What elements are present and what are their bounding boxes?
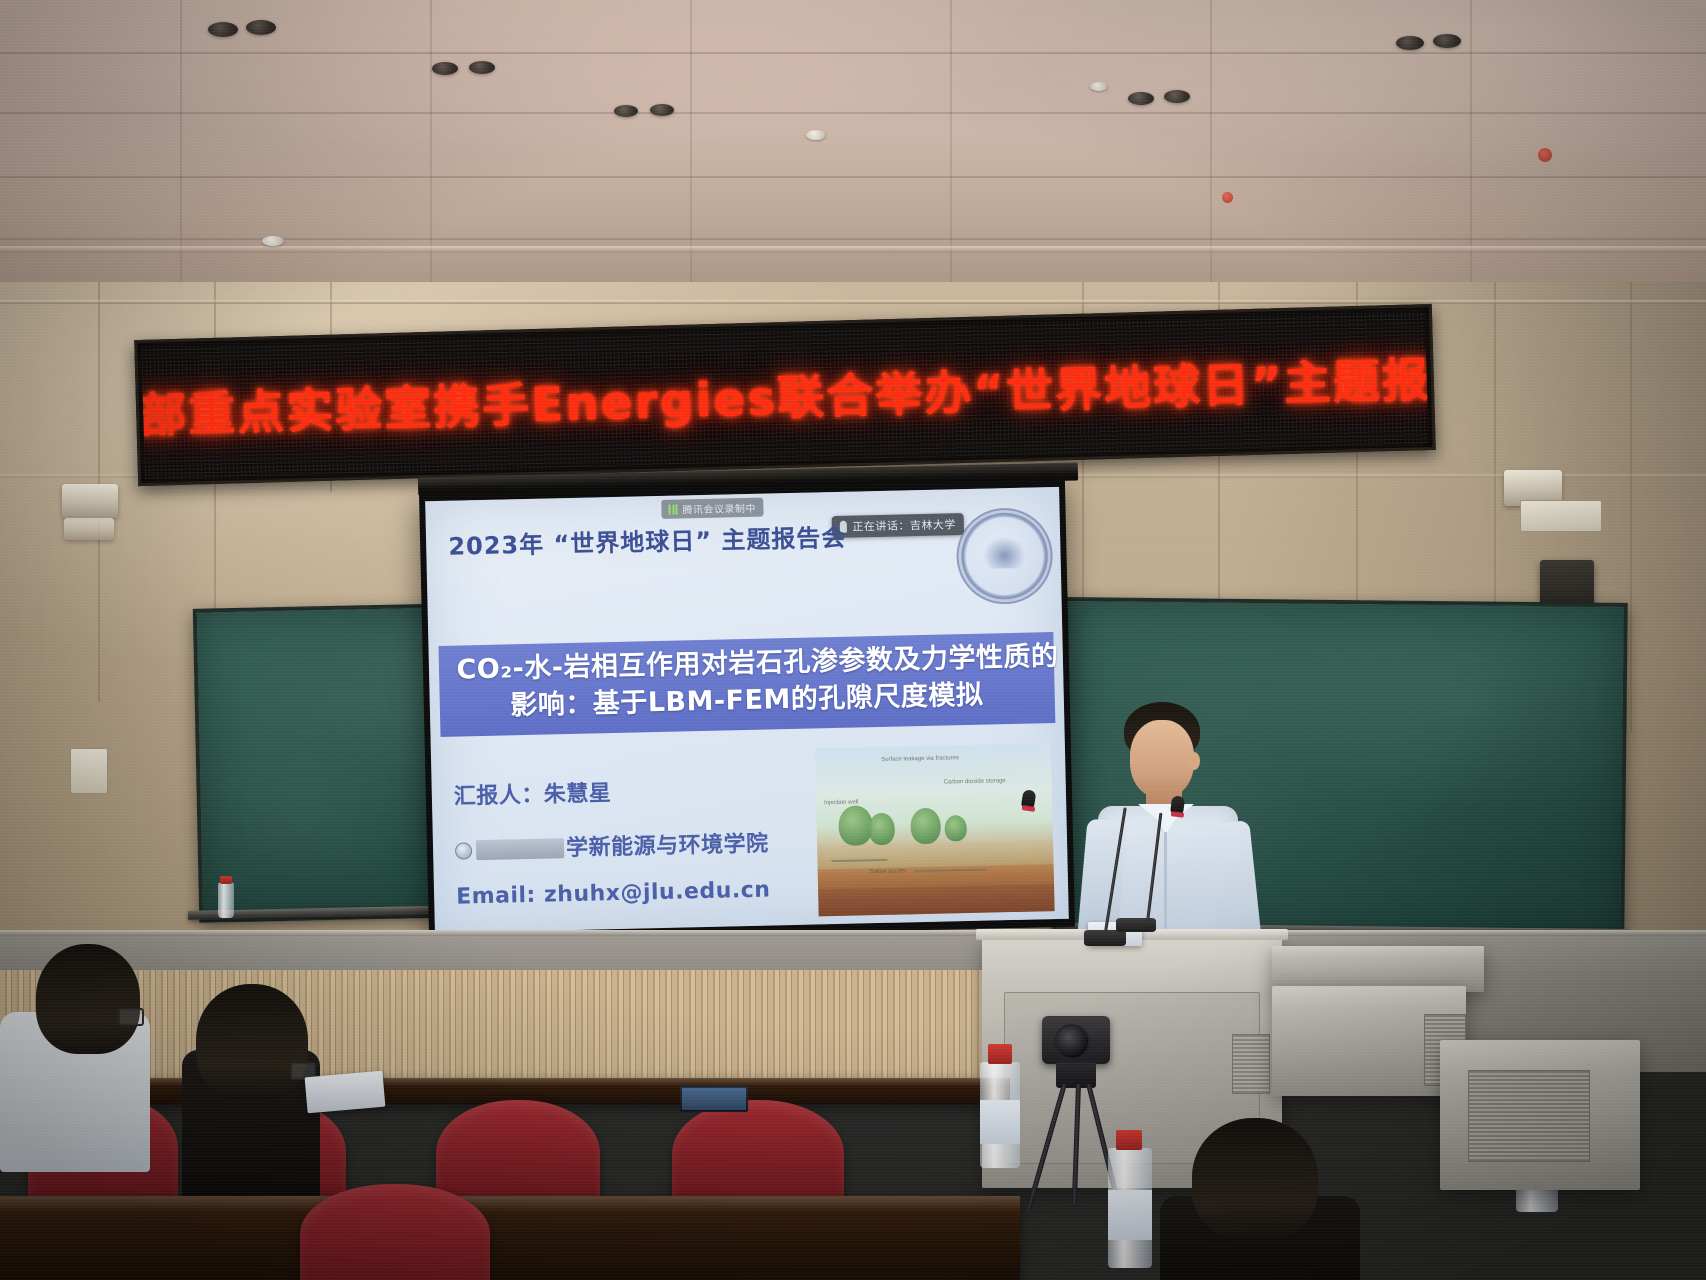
speaking-badge-text: 正在讲话：吉林大学: [852, 516, 956, 534]
microphone-base-right: [1116, 918, 1156, 932]
slide-affiliation-text: 学新能源与环境学院: [566, 832, 769, 862]
slide-title-block: CO₂-水-岩相互作用对岩石孔渗参数及力学性质的 影响：基于LBM-FEM的孔隙…: [438, 632, 1055, 736]
stage-edge: [0, 930, 1706, 936]
bottle-label: [980, 1100, 1020, 1144]
water-bottle-tray: [218, 882, 234, 918]
audience-tablet: [680, 1086, 748, 1112]
fire-sprinkler: [1222, 192, 1233, 203]
smoke-detector: [262, 236, 284, 246]
speaking-indicator-badge: 正在讲话：吉林大学: [831, 513, 964, 538]
ceiling-downlight: [208, 22, 238, 37]
led-screen: 教育部重点实验室携手Energies联合举办“世界地球日”主题报告会: [141, 311, 1428, 479]
smoke-detector: [806, 130, 826, 140]
bottle-cap: [220, 876, 232, 884]
figure-caption-1: Surface leakage via fractures: [881, 755, 959, 764]
smoke-detector: [1090, 82, 1108, 91]
audience-person-head: [196, 984, 308, 1100]
bottle-label: [1108, 1190, 1152, 1240]
ceiling-downlight: [246, 20, 276, 35]
fire-sprinkler: [1538, 148, 1552, 162]
camera-lens-icon: [1054, 1024, 1090, 1060]
wall-lamp-left: [64, 518, 114, 540]
tablet-screen: [682, 1088, 746, 1110]
audience-notebook: [305, 1071, 386, 1114]
speaker-ear: [1188, 752, 1200, 770]
bottle-cap: [988, 1044, 1012, 1064]
wall-panel: [1520, 500, 1602, 532]
redaction-bar: [476, 838, 564, 860]
recording-watermark: 腾讯会议录制中: [661, 498, 763, 519]
ceiling-downlight: [1128, 92, 1154, 105]
auditorium-seat: [436, 1100, 600, 1210]
slide-affiliation: 学新能源与环境学院: [455, 826, 769, 865]
slide-email: Email: zhuhx@jlu.edu.cn: [456, 878, 771, 910]
led-banner-text: 教育部重点实验室携手Energies联合举办“世界地球日”主题报告会: [141, 338, 1428, 449]
ceiling-downlight: [469, 61, 495, 74]
figure-caption-2: Carbon dioxide storage: [944, 778, 1006, 787]
ceiling-downlight: [650, 104, 674, 116]
figure-caption-4: Saline aquifer: [870, 868, 907, 876]
figure-caption-3: Injection well: [824, 799, 859, 807]
audience-person-head: [36, 944, 140, 1054]
lectern-vent-grill: [1232, 1034, 1270, 1094]
slide-header: 2023年 “世界地球日” 主题报告会: [448, 518, 847, 562]
equipment-vent: [1468, 1070, 1590, 1162]
lecture-hall-photo: 教育部重点实验室携手Energies联合举办“世界地球日”主题报告会 腾讯会议录…: [0, 0, 1706, 1280]
microphone-base-left: [1084, 930, 1126, 946]
wall-lamp-left: [62, 484, 118, 518]
projection-screen: 腾讯会议录制中 正在讲话：吉林大学 2023年 “世界地球日” 主题报告会 CO…: [419, 479, 1075, 942]
ccs-schematic-figure: Surface leakage via fractures Carbon dio…: [815, 743, 1055, 916]
signal-bars-icon: [668, 504, 677, 514]
affiliation-logo-icon: [455, 842, 472, 859]
ceiling-downlight: [1396, 36, 1424, 50]
watermark-text: 腾讯会议录制中: [682, 500, 756, 517]
wood-slat-wainscot: [0, 970, 1000, 1090]
wall-switch-plate[interactable]: [70, 748, 108, 794]
ceiling-downlight: [614, 105, 638, 117]
ceiling-downlight: [1433, 34, 1461, 48]
eyeglasses: [118, 1008, 144, 1026]
audience-person-head: [1192, 1118, 1318, 1240]
seal-emblem: [983, 536, 1026, 568]
university-seal-logo: [955, 507, 1053, 605]
speaker-face: [1130, 720, 1194, 798]
ceiling-downlight: [432, 62, 458, 75]
presentation-slide: 腾讯会议录制中 正在讲话：吉林大学 2023年 “世界地球日” 主题报告会 CO…: [425, 487, 1069, 933]
auditorium-seat: [300, 1184, 490, 1280]
ceiling-downlight: [1164, 90, 1190, 103]
slide-presenter: 汇报人：朱慧星: [453, 775, 611, 811]
bottle-cap: [1116, 1130, 1142, 1150]
